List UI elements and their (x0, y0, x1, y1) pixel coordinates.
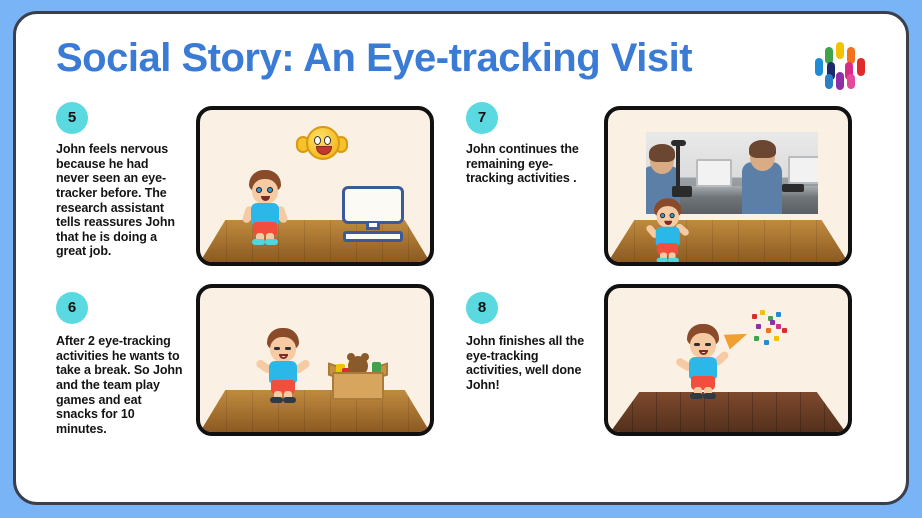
step-number-badge-6: 6 (56, 292, 88, 324)
people-circle-logo (814, 42, 866, 94)
page-title: Social Story: An Eye-tracking Visit (56, 36, 692, 81)
confetti-popper-icon (726, 310, 788, 358)
wooden-stage-floor (608, 392, 848, 432)
story-illustration-7 (604, 106, 852, 266)
step-number-badge-8: 8 (466, 292, 498, 324)
step-caption-8: John finishes all the eye-tracking activ… (466, 334, 596, 393)
toy-box (328, 354, 388, 400)
story-illustration-6 (196, 284, 434, 436)
story-illustration-5 (196, 106, 434, 266)
story-illustration-8 (604, 284, 852, 436)
step-number-badge-5: 5 (56, 102, 88, 134)
step-caption-5: John feels nervous because he had never … (56, 142, 184, 259)
slide-card: Social Story: An Eye-tracking Visit 5 Jo… (13, 11, 909, 505)
boy-character (260, 328, 306, 402)
step-caption-6: After 2 eye-tracking activities he wants… (56, 334, 184, 436)
computer-monitor-icon (342, 186, 404, 242)
step-number-badge-7: 7 (466, 102, 498, 134)
wooden-floor (200, 390, 430, 432)
boy-character (648, 198, 688, 262)
boy-character (680, 324, 726, 398)
step-caption-7: John continues the remaining eye-trackin… (466, 142, 594, 186)
slide-canvas: Social Story: An Eye-tracking Visit 5 Jo… (0, 0, 922, 518)
wooden-floor (608, 220, 848, 262)
thumbs-up-emoji-icon (296, 124, 348, 168)
boy-character (242, 170, 288, 244)
